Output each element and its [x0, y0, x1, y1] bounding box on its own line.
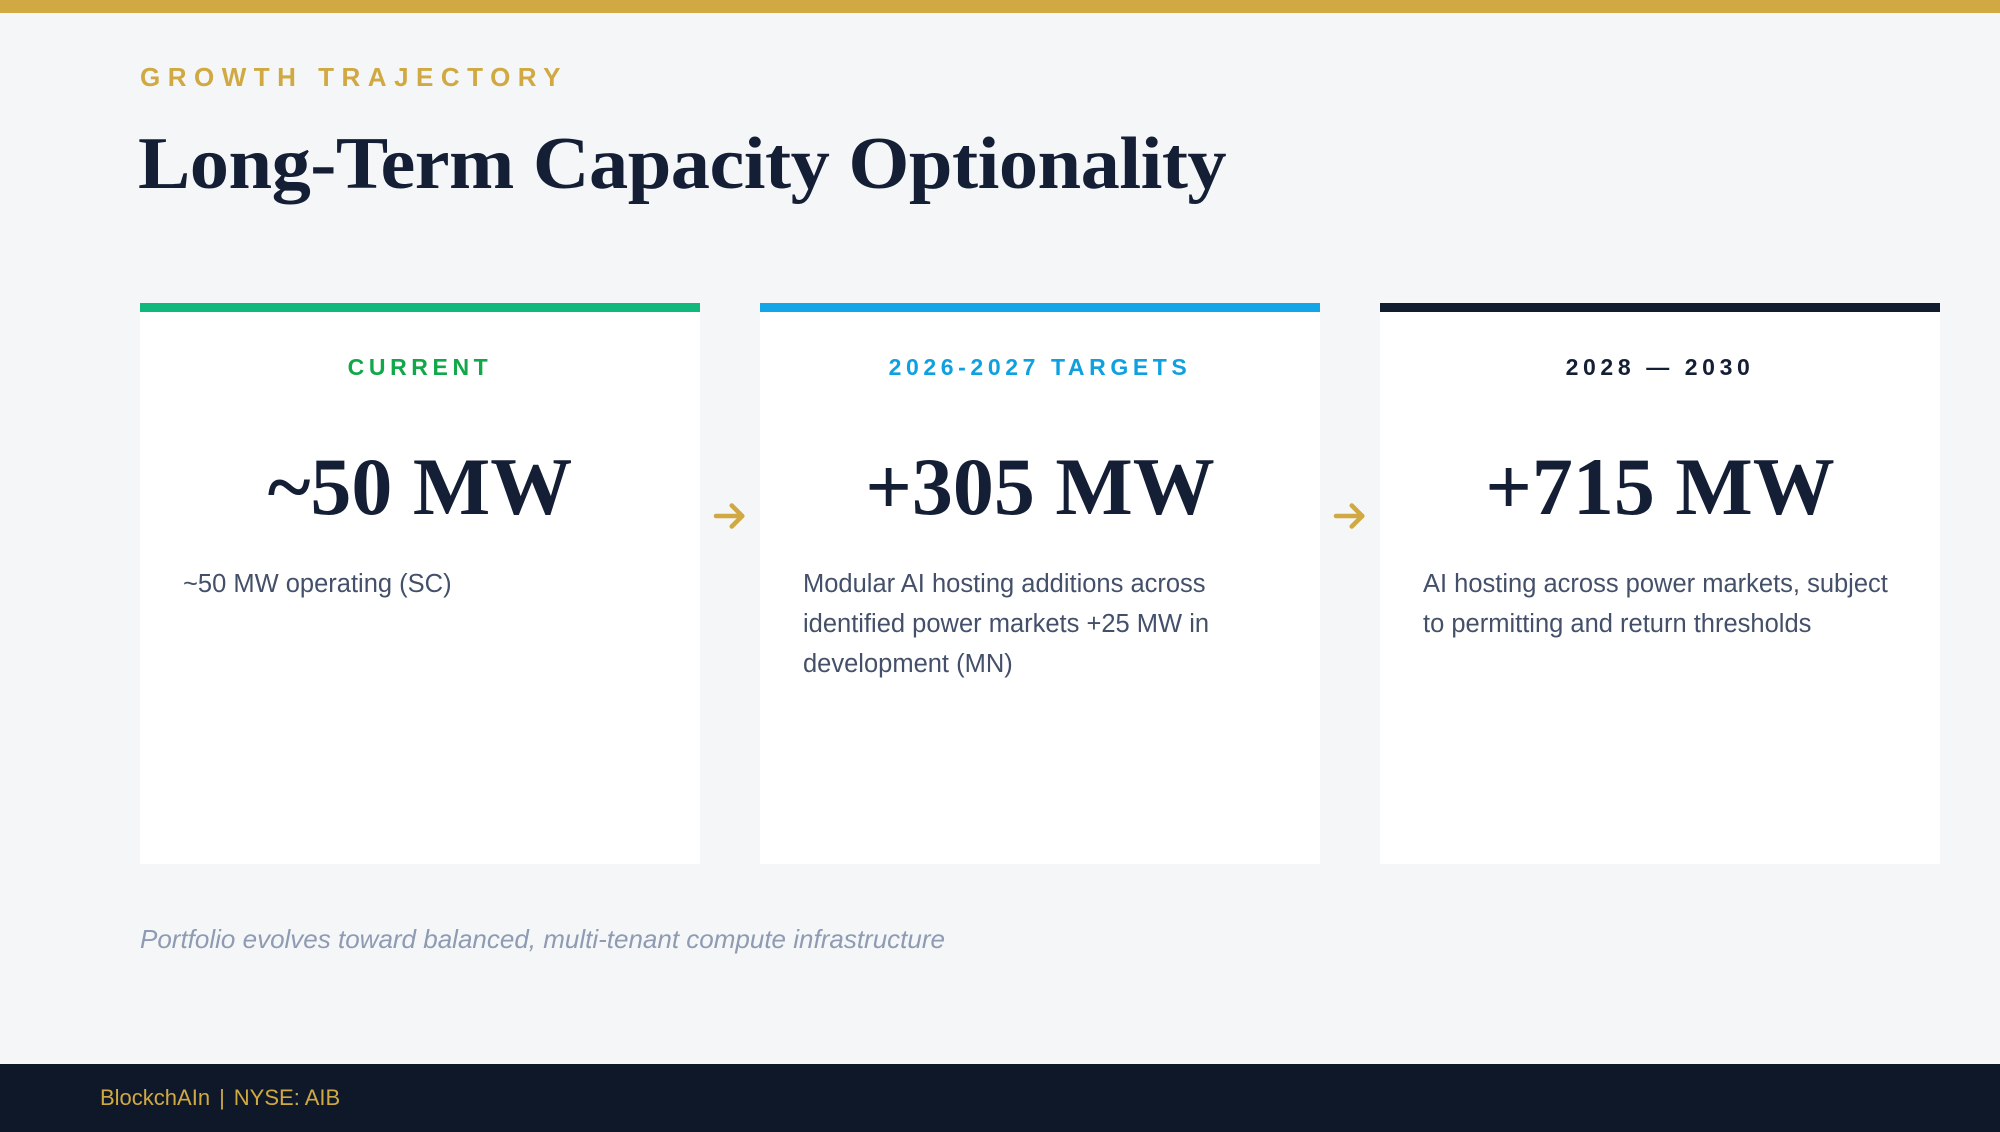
capacity-card-current: CURRENT ~50 MW ~50 MW operating (SC) [140, 303, 700, 864]
card-accent-bar [140, 303, 700, 312]
card-accent-bar [1380, 303, 1940, 312]
connector-2 [1320, 303, 1380, 864]
card-description: Modular AI hosting additions across iden… [803, 564, 1290, 684]
top-accent-bar [0, 0, 2000, 13]
card-figure: +305 MW [760, 440, 1320, 534]
connector-1 [700, 303, 760, 864]
footer-ticker: NYSE: AIB [234, 1085, 340, 1110]
card-figure: ~50 MW [140, 440, 700, 534]
card-label: 2028 — 2030 [1380, 354, 1940, 381]
capacity-card-2028-2030: 2028 — 2030 +715 MW AI hosting across po… [1380, 303, 1940, 864]
card-description: ~50 MW operating (SC) [183, 564, 670, 604]
card-description: AI hosting across power markets, subject… [1423, 564, 1910, 644]
footer-brand: BlockchAIn [100, 1085, 210, 1110]
eyebrow-label: GROWTH TRAJECTORY [140, 62, 568, 93]
footer-separator: | [210, 1085, 234, 1110]
slide-caption: Portfolio evolves toward balanced, multi… [140, 924, 945, 955]
arrow-right-icon [709, 495, 751, 537]
card-figure: +715 MW [1380, 440, 1940, 534]
card-body: 2028 — 2030 +715 MW AI hosting across po… [1380, 312, 1940, 864]
card-label: 2026-2027 TARGETS [760, 354, 1320, 381]
card-label: CURRENT [140, 354, 700, 381]
capacity-card-2026-2027: 2026-2027 TARGETS +305 MW Modular AI hos… [760, 303, 1320, 864]
page-title: Long-Term Capacity Optionality [138, 122, 1226, 207]
footer-text: BlockchAIn|NYSE: AIB [100, 1085, 340, 1111]
arrow-right-icon [1329, 495, 1371, 537]
card-body: 2026-2027 TARGETS +305 MW Modular AI hos… [760, 312, 1320, 864]
card-body: CURRENT ~50 MW ~50 MW operating (SC) [140, 312, 700, 864]
card-accent-bar [760, 303, 1320, 312]
capacity-cards-row: CURRENT ~50 MW ~50 MW operating (SC) 202… [140, 303, 1940, 864]
footer-bar: BlockchAIn|NYSE: AIB [0, 1064, 2000, 1132]
